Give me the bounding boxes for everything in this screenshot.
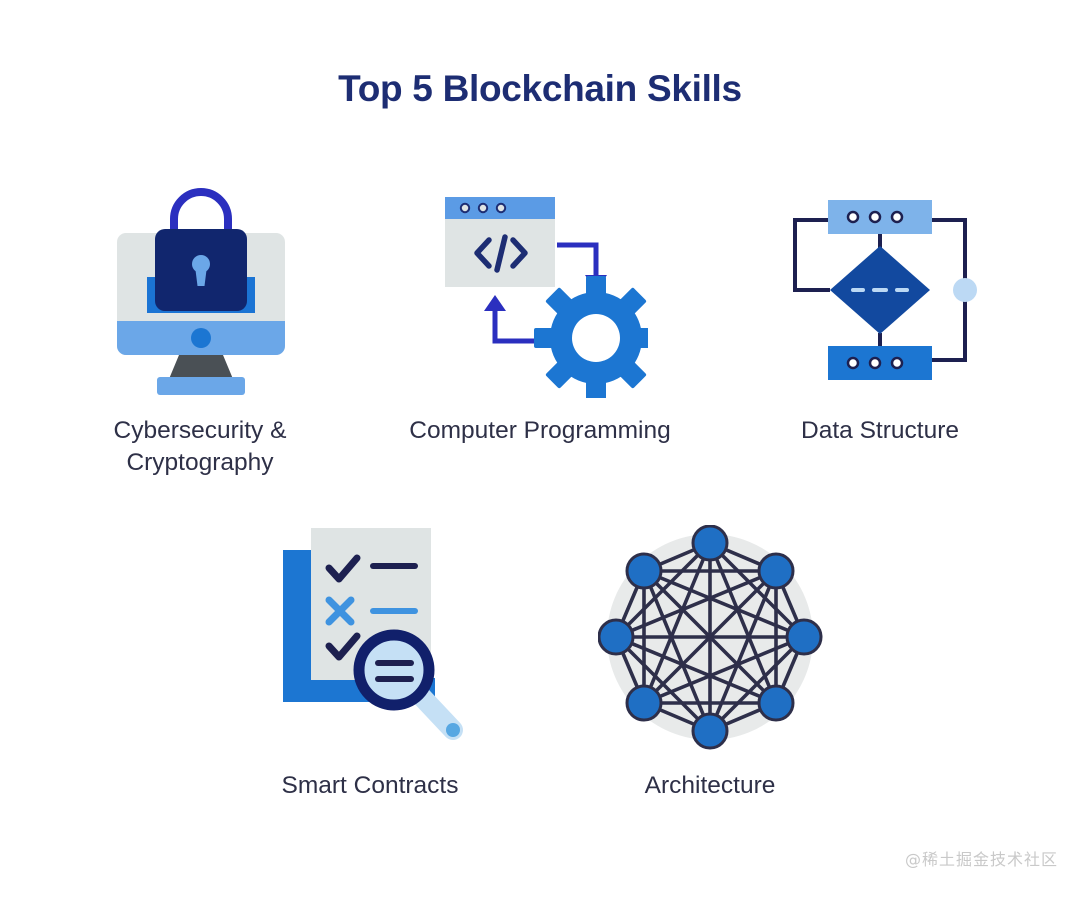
skill-icon-wrapper bbox=[95, 178, 305, 403]
page-title: Top 5 Blockchain Skills bbox=[0, 68, 1080, 110]
code-window-gear-icon bbox=[433, 183, 648, 398]
skills-row-bottom: Smart Contracts bbox=[0, 525, 1080, 802]
skill-icon-wrapper bbox=[598, 525, 823, 750]
watermark: @稀土掘金技术社区 bbox=[905, 846, 1058, 870]
flowchart-diamond-icon bbox=[775, 188, 985, 393]
skill-label-architecture: Architecture bbox=[645, 770, 776, 802]
padlock-monitor-icon bbox=[95, 181, 305, 401]
network-nodes-icon bbox=[598, 525, 823, 750]
skill-label-smart-contracts: Smart Contracts bbox=[282, 770, 459, 802]
skill-card-cybersecurity-cryptography[interactable]: Cybersecurity & Cryptography bbox=[30, 178, 370, 480]
skill-label-data-structure: Data Structure bbox=[801, 415, 959, 447]
checklist-magnifier-icon bbox=[263, 518, 478, 758]
skill-card-architecture[interactable]: Architecture bbox=[540, 525, 880, 802]
infographic-canvas: Top 5 Blockchain Skills bbox=[0, 0, 1080, 898]
skill-card-smart-contracts[interactable]: Smart Contracts bbox=[200, 525, 540, 802]
skill-card-data-structure[interactable]: Data Structure bbox=[710, 178, 1050, 480]
skill-icon-wrapper bbox=[775, 178, 985, 403]
skill-label-computer-programming: Computer Programming bbox=[409, 415, 670, 447]
skill-card-computer-programming[interactable]: Computer Programming bbox=[370, 178, 710, 480]
skills-row-top: Cybersecurity & Cryptography bbox=[0, 178, 1080, 480]
skill-icon-wrapper bbox=[263, 525, 478, 750]
skill-icon-wrapper bbox=[433, 178, 648, 403]
skill-label-cybersecurity-cryptography: Cybersecurity & Cryptography bbox=[114, 415, 287, 480]
